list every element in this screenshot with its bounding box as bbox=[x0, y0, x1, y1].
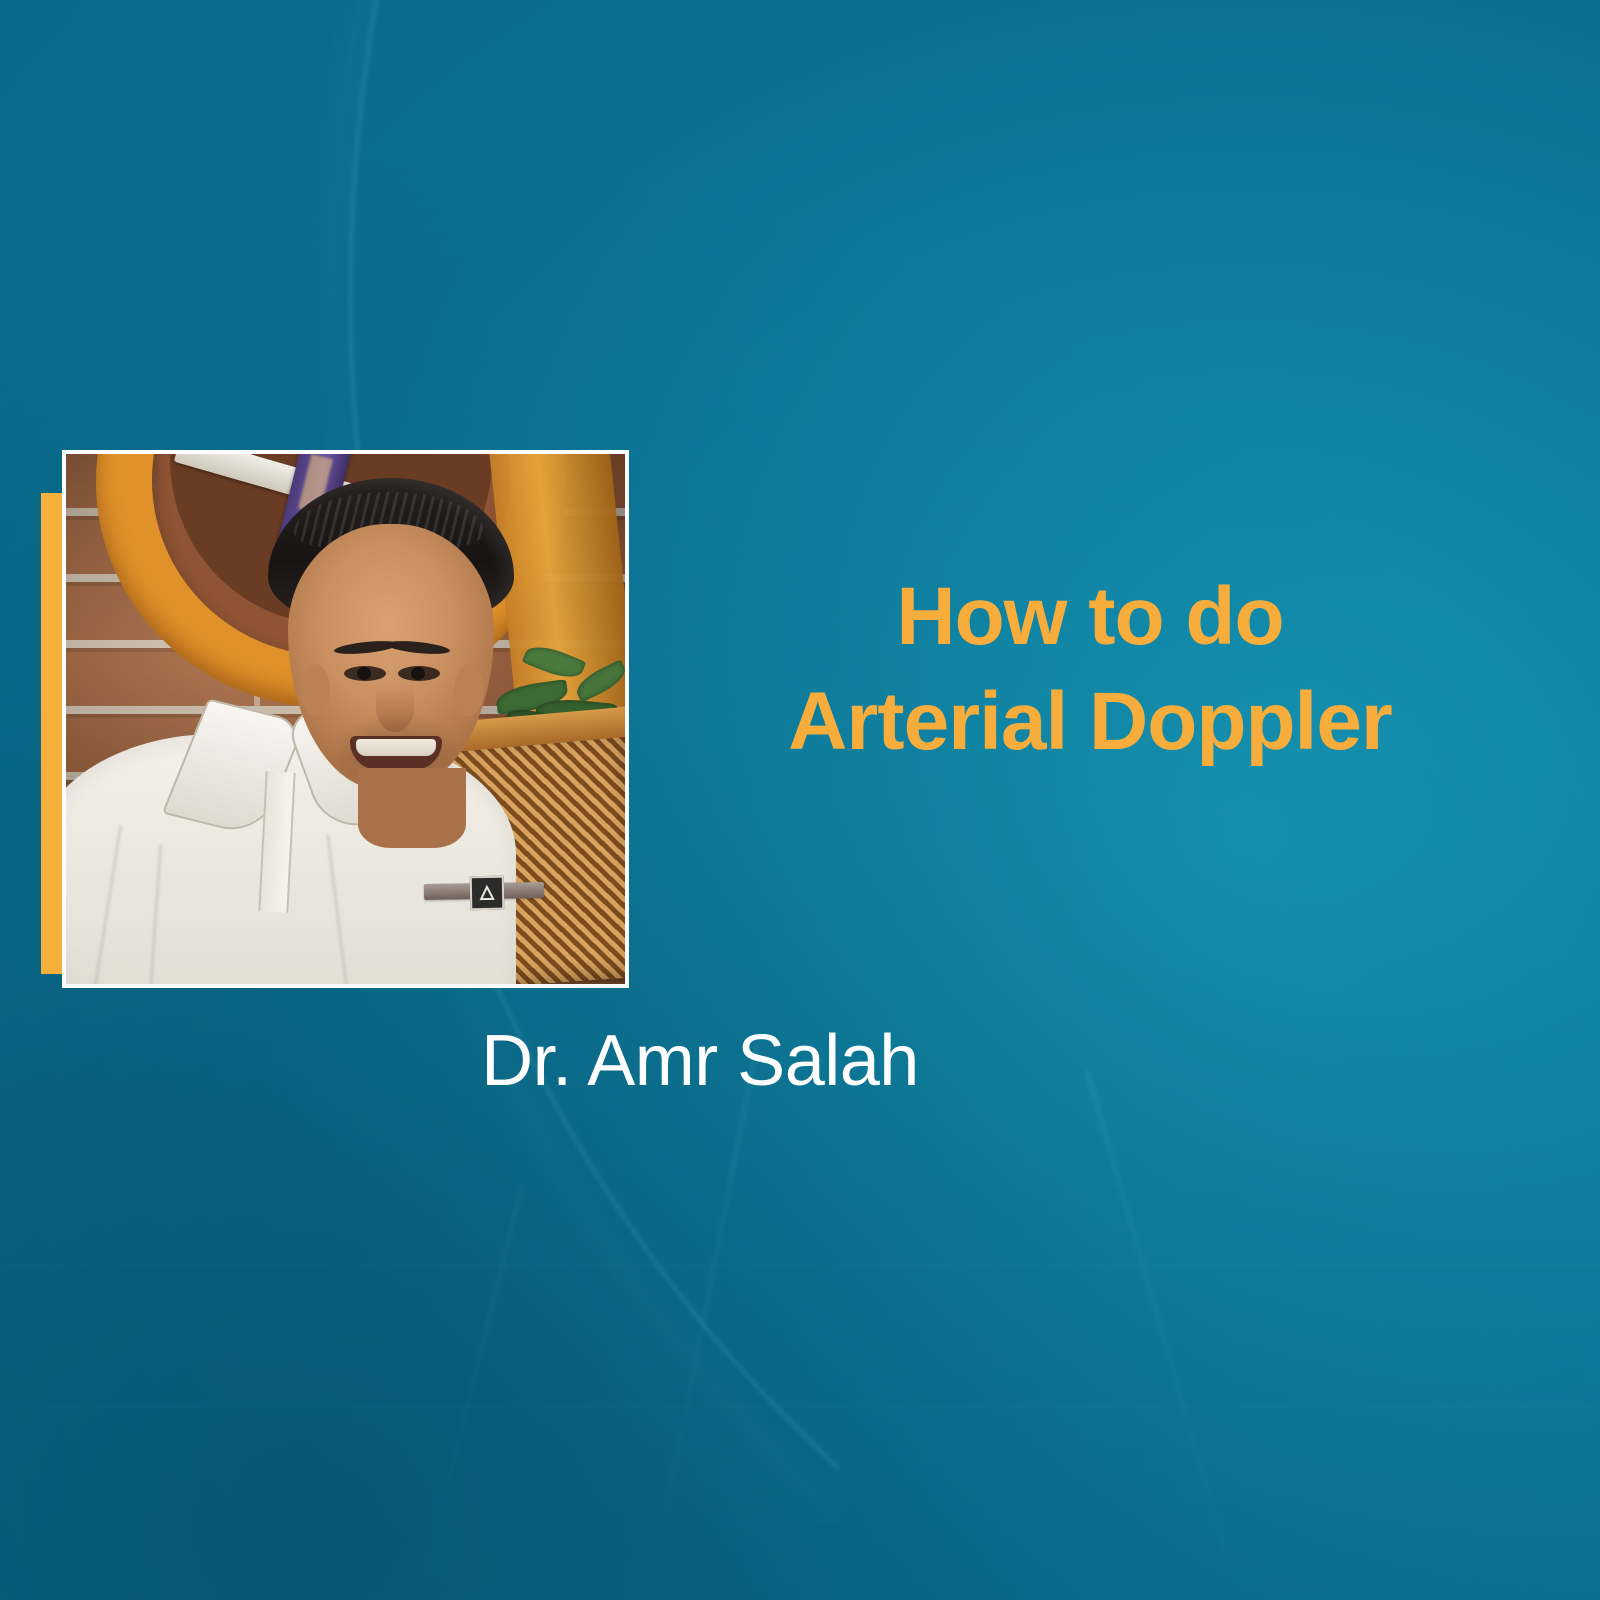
eyebrow-right bbox=[386, 639, 451, 657]
shirt-fold bbox=[326, 834, 348, 984]
presentation-slide: How to do Arterial Doppler Dr. Amr Salah bbox=[0, 0, 1600, 1600]
face bbox=[288, 524, 494, 790]
speaker-photo bbox=[66, 454, 625, 984]
smiling-mouth bbox=[350, 736, 442, 770]
slide-title: How to do Arterial Doppler bbox=[700, 565, 1480, 775]
slide-title-line-2: Arterial Doppler bbox=[700, 670, 1480, 775]
shirt-fold bbox=[149, 844, 162, 984]
background-band-upper bbox=[0, 1265, 1600, 1267]
ear-left bbox=[300, 664, 330, 716]
ear-right bbox=[454, 664, 484, 716]
triangle-logo-icon bbox=[470, 876, 505, 911]
eye-right bbox=[398, 666, 440, 681]
shirt-badge bbox=[424, 882, 544, 900]
plant-leaf bbox=[522, 640, 587, 685]
speaker-photo-frame bbox=[62, 450, 629, 988]
neck bbox=[358, 768, 466, 848]
slide-title-line-1: How to do bbox=[700, 565, 1480, 670]
teeth bbox=[356, 739, 436, 756]
background-band-lower bbox=[0, 1405, 1600, 1407]
speaker-head bbox=[262, 478, 520, 796]
presenter-name: Dr. Amr Salah bbox=[240, 1022, 1160, 1101]
shirt-fold bbox=[93, 825, 123, 984]
eye-left bbox=[344, 666, 386, 681]
